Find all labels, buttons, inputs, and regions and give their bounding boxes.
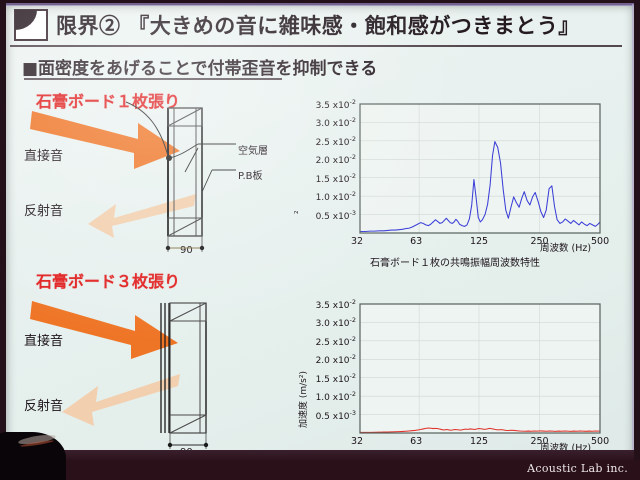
slide-subtitle: ■面密度をあげることで付帯歪音を抑制できる — [22, 54, 377, 79]
chart-y-tick: 1.5 x10-2 — [304, 372, 356, 385]
chart-three-boards: 加速度 (m/s²) 周波数 (Hz) 石膏ボード3枚の共鳴振幅周波数特性 32… — [290, 296, 620, 466]
chart-y-tick: 3.0 x10-2 — [304, 316, 356, 329]
chart-y-tick: 1.0 x10-2 — [304, 390, 356, 403]
chart-y-tick: 2.0 x10-2 — [304, 353, 356, 366]
chart-y-tick: 3.0 x10-2 — [304, 116, 356, 129]
chart-one-board: ² 周波数 (Hz) 石膏ボード１枚の共鳴振幅周波数特性 32631252505… — [290, 96, 620, 261]
projection-fringe-right — [632, 4, 634, 460]
wall-section-diagram-three-boards — [130, 295, 260, 460]
chart-x-tick: 32 — [351, 236, 363, 247]
chart-x-tick: 500 — [591, 436, 609, 447]
chart-y-tick: 2.5 x10-2 — [304, 135, 356, 148]
chart-x-tick: 250 — [530, 436, 548, 447]
chart-x-tick: 250 — [530, 236, 548, 247]
chart-y-tick: 1.5 x10-2 — [304, 172, 356, 185]
heading-leader-line-1 — [120, 100, 180, 162]
chart-x-tick: 63 — [410, 436, 422, 447]
acoustic-lab-logo-icon — [14, 9, 48, 41]
label-reflected-sound-2: 反射音 — [24, 395, 63, 414]
title-divider — [10, 45, 622, 47]
projected-slide-screen: 限界② 『大きめの音に雑味感・飽和感がつきまとう』 ■面密度をあげることで付帯歪… — [0, 0, 640, 480]
slide-title-row: 限界② 『大きめの音に雑味感・飽和感がつきまとう』 — [14, 6, 618, 44]
brand-label: Acoustic Lab inc. — [527, 462, 628, 475]
chart-y-tick: 0.5 x10-3 — [304, 209, 356, 222]
page-title: 限界② 『大きめの音に雑味感・飽和感がつきまとう』 — [56, 10, 580, 40]
chart-x-tick: 125 — [470, 236, 488, 247]
chart-y-tick: 0.5 x10-3 — [304, 409, 356, 422]
chart-y-tick: 3.5 x10-2 — [304, 298, 356, 311]
chart-x-tick: 32 — [351, 436, 363, 447]
subtitle-divider — [24, 78, 282, 80]
chart-y-tick: 2.0 x10-2 — [304, 153, 356, 166]
chart-y-tick: 1.0 x10-2 — [304, 190, 356, 203]
chart-y-tick: 3.5 x10-2 — [304, 98, 356, 111]
chart-x-tick: 500 — [591, 236, 609, 247]
chart-y-tick: 2.5 x10-2 — [304, 335, 356, 348]
label-reflected-sound-1: 反射音 — [24, 200, 63, 219]
section-heading-three-boards: 石膏ボード３枚張り — [36, 268, 180, 292]
chart1-caption: 石膏ボード１枚の共鳴振幅周波数特性 — [370, 254, 540, 269]
chart-x-tick: 125 — [470, 436, 488, 447]
chart1-y-axis-label: ² — [294, 210, 304, 214]
chart-x-tick: 63 — [410, 236, 422, 247]
